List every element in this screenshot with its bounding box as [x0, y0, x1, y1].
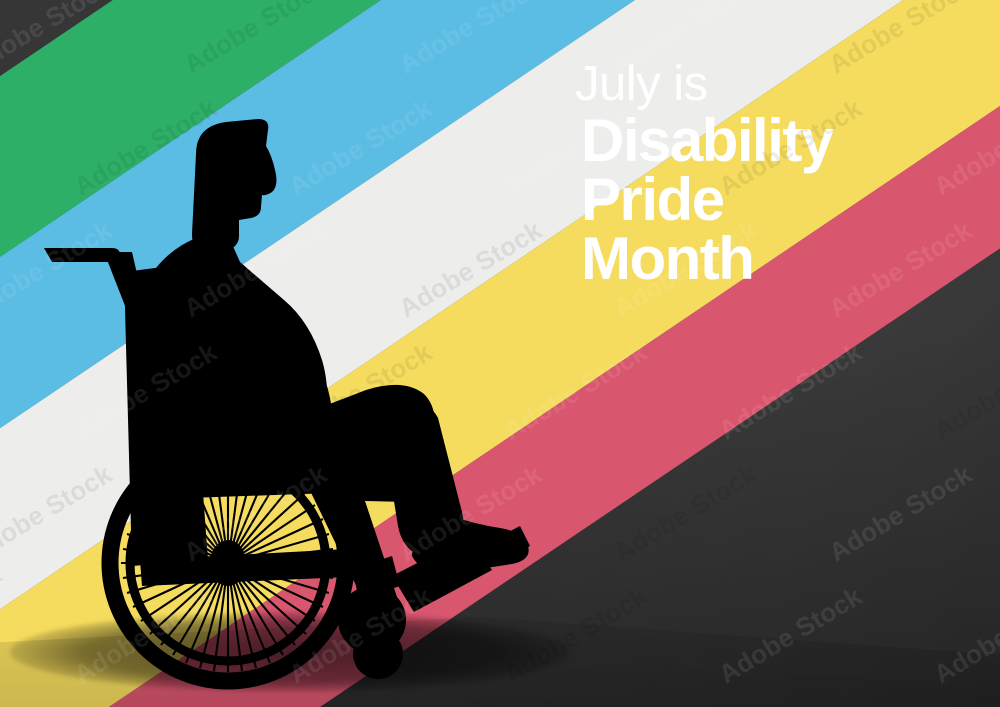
- adobe-stock-sidebar-watermark: Adobe Stock | #618730987: [0, 486, 4, 681]
- stock-image-canvas: July is Disability Pride Month Adobe Sto…: [0, 0, 1000, 707]
- wheel-hub: [210, 540, 246, 586]
- large-rear-wheel: [110, 445, 346, 681]
- headline-line-2: Disability: [581, 112, 975, 169]
- head-profile: [192, 119, 276, 254]
- headline-line-4: Month: [581, 230, 975, 287]
- shoe: [412, 513, 529, 574]
- headline-block: July is Disability Pride Month: [575, 58, 975, 287]
- headline-line-1: July is: [575, 58, 975, 110]
- headline-line-3: Pride: [581, 171, 975, 228]
